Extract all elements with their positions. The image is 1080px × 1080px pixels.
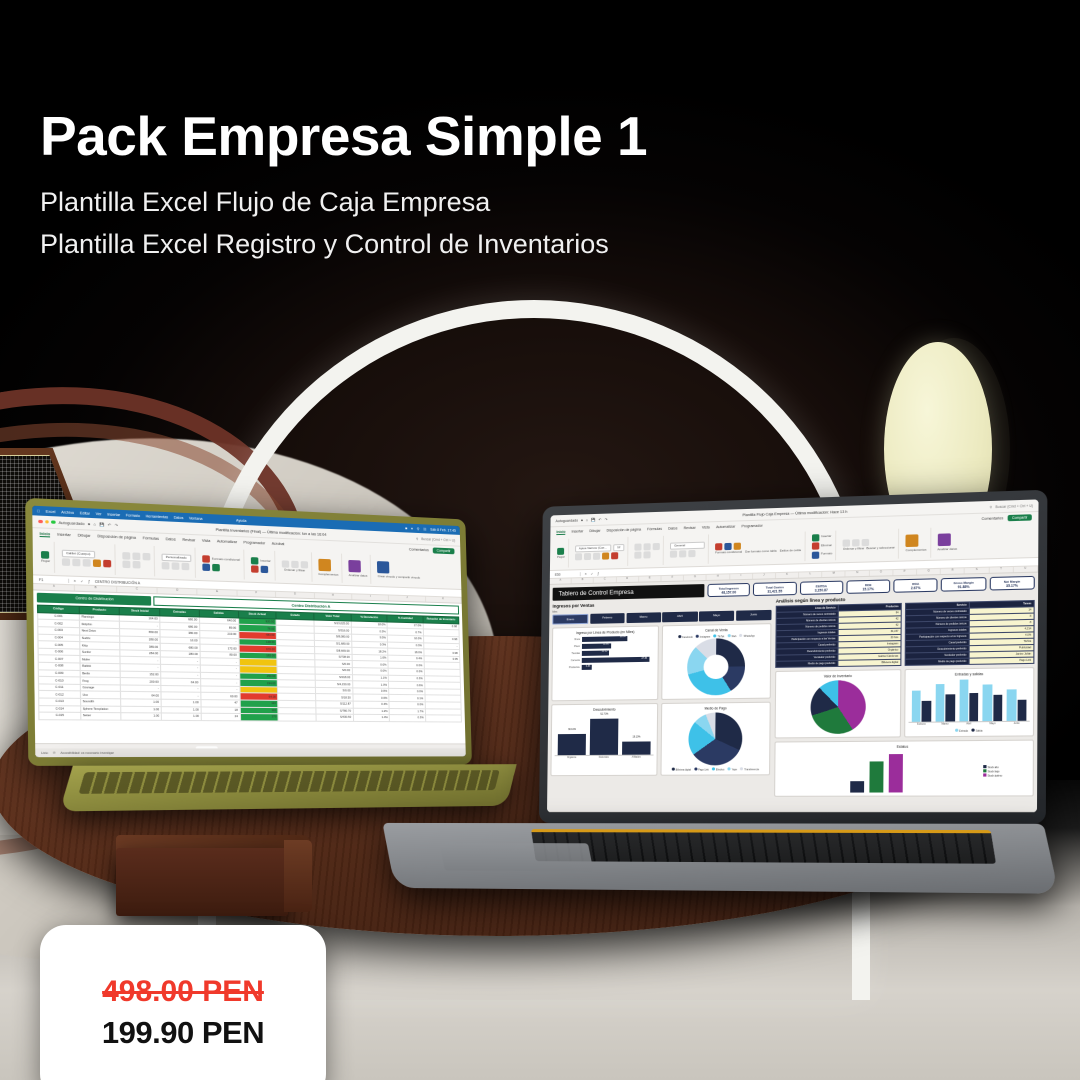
format-cells-icon-right[interactable]	[811, 551, 818, 558]
search-icon[interactable]: ⚲	[416, 536, 418, 540]
col-r-G[interactable]: G	[684, 575, 707, 581]
wrap-text-icon-right[interactable]	[634, 552, 641, 559]
laptop-right-screen: Autoguardado ⏺ ⌂ 💾 ↶ ↷ Plantilla Flujo C…	[547, 499, 1039, 812]
redo-icon-right[interactable]: ↷	[605, 517, 608, 521]
share-link-icon[interactable]	[377, 561, 389, 573]
ribbon-group-share-link[interactable]: Crear vínculo y compartir vínculo	[374, 555, 423, 586]
menu-ayuda[interactable]: Ayuda	[236, 518, 246, 523]
paste-icon-right[interactable]	[557, 547, 564, 554]
chart-card-descubrimiento[interactable]: Descubrimiento 30.10%52.70%19.10% Orgáni…	[550, 703, 658, 776]
currency-icon[interactable]	[161, 562, 169, 570]
tab-programador[interactable]: Programador	[243, 540, 265, 545]
table-linea-rows: Número de veces contratado64Número de cl…	[776, 610, 902, 668]
bar-group	[912, 679, 932, 722]
tab-datos[interactable]: Datos	[166, 537, 176, 542]
laptop-right: Autoguardado ⏺ ⌂ 💾 ↶ ↷ Plantilla Flujo C…	[520, 490, 1047, 911]
cancel-formula-icon-right[interactable]: ×	[585, 572, 587, 576]
legend-item: Facebook	[678, 634, 692, 638]
align-center-icon[interactable]	[132, 552, 140, 560]
tab-dibujar[interactable]: Dibujar	[78, 533, 91, 538]
slicer-mayo[interactable]: Mayo	[699, 611, 734, 621]
laptop-right-keyboard	[531, 829, 996, 864]
comma-icon-right[interactable]	[688, 550, 695, 557]
ribbon-group-alignment-right[interactable]	[631, 536, 664, 566]
tab-insertar-right[interactable]: Insertar	[571, 529, 583, 533]
menu-clock: Sáb 8 Feb. 17:45	[430, 527, 456, 532]
ribbon-label-formato-condicional-right: Formato condicional	[715, 551, 742, 555]
accessibility-icon[interactable]: ♾	[53, 751, 56, 755]
wifi-icon[interactable]: ▾	[411, 526, 413, 530]
laptop-right-lid: Autoguardado ⏺ ⌂ 💾 ↶ ↷ Plantilla Flujo C…	[539, 490, 1048, 824]
tab-disposicion-right[interactable]: Disposición de página	[606, 527, 641, 532]
bar	[1017, 699, 1026, 721]
cell-valor-total[interactable]: S/430.50	[316, 714, 353, 721]
dashboard-sheet[interactable]: Tablero de Control Empresa Total Ingreso…	[547, 573, 1038, 813]
ribbon-group-analyze-right[interactable]: Analizar datos	[934, 527, 961, 558]
col-r-O[interactable]: O	[870, 570, 894, 576]
bar: 46.66%	[889, 754, 903, 793]
slicer-abril[interactable]: Abril	[662, 611, 697, 621]
comma-icon[interactable]	[181, 563, 189, 571]
autosave-label-right[interactable]: Autoguardado	[555, 518, 578, 523]
tab-vista-right[interactable]: Vista	[702, 525, 710, 529]
col-r-I[interactable]: I	[730, 574, 753, 580]
hbar-track: 27.84	[582, 657, 655, 663]
tab-formulas-right[interactable]: Fórmulas	[647, 527, 662, 531]
maximize-icon[interactable]	[51, 520, 55, 524]
find-select-icon[interactable]	[300, 561, 307, 568]
menu-ver[interactable]: Ver	[96, 511, 102, 515]
estatus-bar-chart: 14.28%38.08%46.66%	[778, 750, 976, 792]
slicer-febrero[interactable]: Febrero	[590, 613, 625, 623]
merge-cells-icon[interactable]	[132, 561, 140, 569]
currency-icon-right[interactable]	[670, 551, 677, 558]
underline-icon-right[interactable]	[593, 553, 600, 560]
estatus-legend: Stock altoStock bajoStock óptimo	[983, 765, 1029, 778]
dashboard-columns: Ingresos por Ventas Mes EneroFebreroMarz…	[550, 593, 1035, 798]
ribbon-label-insertar: Insertar	[260, 559, 271, 563]
tab-insertar[interactable]: Insertar	[57, 532, 71, 537]
cell-rotacion[interactable]	[426, 715, 462, 722]
bar-group	[1007, 678, 1027, 721]
merge-cells-icon-right[interactable]	[644, 552, 651, 559]
fill-color-icon[interactable]	[93, 560, 101, 568]
bar: 19.10%	[622, 741, 651, 754]
legend-item: Entrada	[955, 729, 968, 733]
battery-icon[interactable]: ■	[405, 526, 407, 530]
menu-excel[interactable]: Excel	[46, 509, 56, 514]
tab-datos-right[interactable]: Datos	[668, 526, 677, 530]
hbar-row: Pisco11.92	[556, 642, 655, 649]
delete-cells-icon[interactable]	[251, 566, 259, 573]
col-r-R[interactable]: R	[941, 568, 965, 574]
bar: 30.10%	[558, 734, 586, 755]
autosave-toggle[interactable]: ⏺	[88, 522, 90, 526]
kpi-card: EBITDA3,150.87	[799, 581, 843, 595]
sort-filter-icon[interactable]	[291, 560, 299, 567]
bar-group	[959, 678, 979, 721]
kpi-value: 2.67%	[895, 585, 937, 590]
entradas-salidas-categories: FebreroMarzoAbrilMayoJunio	[909, 722, 1030, 727]
ribbon-label-buscar: Buscar y seleccionar	[866, 547, 895, 551]
col-r-E[interactable]: E	[639, 576, 662, 582]
cell-desviacion[interactable]: 1.4%	[353, 714, 390, 721]
tab-inicio-right[interactable]: Inicio	[556, 529, 565, 534]
menu-ventana[interactable]: Ventana	[189, 516, 203, 521]
format-cells-icon[interactable]	[260, 566, 268, 573]
percent-icon-right[interactable]	[679, 550, 686, 557]
subtitle-line-1: Plantilla Excel Flujo de Caja Empresa	[40, 182, 870, 224]
tab-disposicion[interactable]: Disposición de página	[97, 534, 136, 540]
redo-icon[interactable]: ↷	[115, 523, 118, 527]
ribbon-label-formato: Formato	[821, 553, 832, 557]
tab-dibujar-right[interactable]: Dibujar	[589, 529, 600, 533]
dashboard-left-column: Ingresos por Ventas Mes EneroFebreroMarz…	[550, 599, 771, 797]
hbar-value: 18.84	[620, 636, 626, 638]
menu-formato[interactable]: Formato	[126, 513, 140, 518]
hbar-row: Tiendas11.35	[556, 650, 655, 657]
cell-stock-actual[interactable]: 170	[240, 714, 278, 721]
ribbon-group-cells[interactable]: Insertar	[247, 550, 275, 581]
tab-inicio[interactable]: Inicio	[40, 531, 51, 537]
chart-card-medio-pago[interactable]: Medio de Pago Billetera digitalPago Link…	[660, 701, 770, 775]
legend-item: Instagram	[696, 634, 711, 638]
ribbon-group-cells-right[interactable]: Insertar Eliminar Formato	[808, 531, 836, 561]
col-r-C[interactable]: C	[594, 577, 616, 583]
document-title-right: Plantilla Flujo Caja Empresa — Última mo…	[742, 509, 847, 516]
font-name-box[interactable]: Calibri (Cuerpo)	[61, 549, 95, 558]
kpi-card: Total Ingresos48,157.00	[707, 583, 750, 597]
menu-archivo[interactable]: Archivo	[61, 510, 74, 515]
number-format-box-right[interactable]: General	[670, 541, 705, 549]
bold-icon-right[interactable]	[575, 553, 582, 560]
wooden-block-side	[284, 840, 312, 912]
autosum-icon-right[interactable]	[843, 539, 850, 546]
align-left-icon[interactable]	[122, 552, 130, 560]
cell-producto[interactable]: Setter	[80, 713, 121, 720]
tab-revisar[interactable]: Revisar	[182, 538, 195, 543]
italic-icon[interactable]	[72, 559, 80, 567]
legend-item: Transferencia	[740, 767, 759, 771]
comments-button[interactable]: Comentarios	[409, 547, 429, 552]
bar: 52.70%	[590, 719, 619, 755]
ribbon-label-pegar-right: Pegar	[557, 556, 565, 559]
menu-herramientas[interactable]: Herramientas	[145, 514, 168, 519]
addins-icon-right[interactable]	[906, 534, 919, 547]
autosave-toggle-right[interactable]: ⏺	[581, 518, 583, 522]
inventory-rows[interactable]: C-001Flamingo164.00680.00640.00920.00S/1…	[38, 613, 462, 722]
close-icon[interactable]	[38, 520, 42, 524]
bar-group	[935, 679, 955, 722]
bar	[922, 700, 931, 721]
bar	[935, 685, 944, 722]
ribbon-group-styles[interactable]: Formato condicional	[198, 548, 244, 580]
cell-codigo[interactable]: C-015	[39, 712, 81, 719]
ribbon-group-font[interactable]: Calibri (Cuerpo)	[58, 542, 116, 575]
hbar-value: 11.35	[602, 651, 608, 653]
cell-estado[interactable]	[278, 714, 316, 721]
ribbon-label-insertar-right: Insertar	[821, 535, 831, 539]
font-color-icon[interactable]	[103, 560, 111, 568]
entradas-salidas-bar-chart	[909, 678, 1030, 723]
document-title: Plantilla Inventarios (Final) — Última m…	[216, 527, 327, 536]
confirm-formula-icon[interactable]: ✓	[80, 579, 83, 583]
bar: 38.08%	[869, 761, 883, 793]
pie-chart-valor-inventario	[810, 680, 866, 734]
bar-category: Junio	[1007, 723, 1027, 725]
bar-value: 52.70%	[590, 714, 618, 716]
kpi-card: Total Gastos31,421.55	[753, 582, 796, 596]
hbar-track: 18.84	[582, 635, 655, 641]
find-select-icon-right[interactable]	[862, 538, 870, 545]
cancel-formula-icon[interactable]: ×	[74, 578, 76, 582]
bold-icon[interactable]	[62, 558, 70, 566]
inventory-table[interactable]: Código Producto Stock Inicial Entradas S…	[37, 604, 462, 722]
bar-category: Febrero	[912, 724, 931, 726]
menu-insertar[interactable]: Insertar	[107, 512, 120, 517]
bar-value: 19.10%	[622, 736, 650, 738]
cell-stock-inicial[interactable]: 1.00	[121, 713, 161, 720]
font-color-icon-right[interactable]	[611, 552, 618, 559]
chart-card-canal-venta[interactable]: Canal de Venta FacebookInstagramTikTokWe…	[661, 623, 771, 700]
metric-label: Medio de pago preferido	[776, 660, 838, 667]
kpi-value: 48,157.00	[708, 590, 749, 595]
descubrimiento-bar-chart: 30.10%52.70%19.10%	[555, 713, 654, 756]
hbar-track: 4.35	[582, 664, 655, 670]
ribbon-group-clipboard[interactable]: Pegar	[37, 541, 55, 573]
align-right-icon[interactable]	[142, 553, 150, 561]
kpi-value: 35.17%	[990, 583, 1033, 588]
ribbon-group-editing-right[interactable]: Ordenar y filtrar Buscar y seleccionar	[840, 529, 900, 561]
home-icon-right[interactable]: ⌂	[586, 518, 588, 522]
chart-title-entradas-salidas: Entradas y salidas	[909, 671, 1030, 677]
slicer-junio[interactable]: Junio	[736, 610, 772, 621]
apple-logo-icon[interactable]: 	[37, 509, 40, 513]
name-box-right[interactable]: E50	[555, 572, 581, 577]
tab-automatizar-right[interactable]: Automatizar	[716, 525, 735, 530]
hbar-row: Vinos18.84	[556, 635, 655, 642]
analyze-data-icon[interactable]	[348, 560, 361, 573]
col-r-S[interactable]: S	[965, 568, 989, 574]
chart-card-valor-inventario[interactable]: Valor de Inventario	[775, 669, 902, 738]
entradas-salidas-legend: EntradaSalida	[908, 728, 1029, 733]
bar	[912, 691, 921, 722]
col-r-N[interactable]: N	[846, 571, 870, 577]
kpi-card: Net Margin35.17%	[989, 576, 1034, 591]
tab-vista[interactable]: Vista	[202, 539, 210, 543]
insert-cells-icon[interactable]	[251, 557, 259, 564]
tab-revisar-right[interactable]: Revisar	[684, 526, 696, 530]
cell-entradas[interactable]: 1.00	[161, 713, 201, 720]
ribbon-label-ordenar: Ordenar y filtrar	[281, 569, 307, 573]
share-button-right[interactable]: Compartir	[1008, 514, 1032, 521]
formula-input[interactable]: CENTRO DISTRIBUCIÓN A	[95, 579, 140, 585]
legend-item: Salida	[971, 728, 982, 732]
horizontal-bar-chart: Vinos18.84Pisco11.92Tiendas11.35Cerveza2…	[556, 635, 655, 671]
ribbon-group-number-right[interactable]: General	[667, 534, 709, 564]
ribbon-label-estilos-celda: Estilos de celda	[780, 549, 801, 553]
inventory-sheet[interactable]: Centro de Distribución Centro Distribuci…	[33, 590, 465, 755]
accessibility-text: Accesibilidad: es necesario investigar	[60, 751, 114, 755]
cell-styles-icon-right[interactable]	[734, 542, 741, 549]
bar-value: 30.10%	[558, 729, 586, 731]
format-as-table-icon-right[interactable]	[724, 543, 731, 550]
legend-item: Stock óptimo	[983, 773, 1029, 777]
laptop-left-lid:  Excel Archivo Editar Ver Insertar Form…	[25, 498, 472, 766]
percent-icon[interactable]	[171, 563, 179, 571]
chart-card-ingreso-linea[interactable]: Ingreso por Línea de Producto (en Miles)…	[551, 625, 659, 701]
bar	[946, 694, 955, 721]
ribbon-group-number[interactable]: Personalizado	[158, 546, 196, 578]
chart-card-entradas-salidas[interactable]: Entradas y salidas FebreroMarzoAbrilMayo…	[904, 667, 1034, 737]
bar-category: Referidos	[590, 756, 618, 758]
col-r-T[interactable]: T	[989, 567, 1013, 573]
chart-title-medio-pago: Medio de Pago	[665, 705, 766, 710]
wrap-text-icon[interactable]	[122, 561, 130, 569]
undo-icon[interactable]: ↶	[108, 522, 111, 526]
col-r-M[interactable]: M	[822, 571, 846, 577]
hbar-row: Cerveza27.84	[556, 657, 655, 664]
conditional-format-icon-right[interactable]	[715, 543, 722, 550]
kpi-card: ROA2.67%	[893, 578, 938, 593]
search-icon-right[interactable]: ⚲	[990, 505, 993, 509]
autosum-icon[interactable]	[281, 560, 289, 567]
hbar-label: Pisco	[556, 645, 580, 648]
col-r-F[interactable]: F	[661, 575, 684, 581]
bar: 14.28%	[850, 781, 864, 793]
pie-legend: Billetera digitalPago LinkEfectivoYapeTr…	[665, 767, 766, 772]
status-ready: Listo	[41, 751, 48, 755]
bar-category: Orgánico	[558, 757, 586, 759]
slicer-marzo[interactable]: Marzo	[626, 612, 661, 622]
table-servicio[interactable]: Servicio Tareas Número de veces contrata…	[905, 600, 1035, 666]
legend-item: Yape	[727, 767, 737, 771]
ribbon-group-analyze[interactable]: Analizar datos	[345, 554, 372, 584]
hbar-track: 11.92	[582, 642, 655, 648]
ribbon-group-clipboard-right[interactable]: Pegar	[554, 539, 569, 568]
insert-function-icon[interactable]: ƒ	[88, 579, 90, 583]
search-input[interactable]: Buscar (Cmd + Ctrl + U)	[421, 537, 455, 542]
kpi-value: 31,421.55	[754, 588, 795, 593]
bar-category: Afiliados	[622, 756, 650, 758]
price-original: 498.00 PEN	[102, 975, 264, 1009]
ribbon-group-styles-right[interactable]: Formato condicional Dar formato como tab…	[712, 532, 805, 564]
table-linea-servicio[interactable]: Línea de Servicio Productos Número de ve…	[775, 603, 902, 668]
cell-cantidad[interactable]: 0.3%	[390, 715, 426, 722]
italic-icon-right[interactable]	[584, 553, 591, 560]
ribbon-label-dar-formato-tabla: Dar formato como tabla	[745, 550, 776, 554]
col-r-Q[interactable]: Q	[917, 569, 941, 575]
search-input-right[interactable]: Buscar (Cmd + Ctrl + U)	[995, 503, 1033, 508]
sort-filter-icon-right[interactable]	[852, 539, 859, 546]
col-r-U[interactable]: U	[1014, 566, 1038, 572]
descubrimiento-categories: OrgánicoReferidosAfiliados	[555, 755, 654, 760]
control-center-icon[interactable]: ☷	[423, 527, 426, 531]
menu-editar[interactable]: Editar	[80, 511, 90, 516]
hbar-value: 11.92	[603, 644, 609, 646]
align-center-icon-right[interactable]	[644, 543, 651, 550]
cell-salidas[interactable]: 24	[201, 713, 240, 720]
col-r-P[interactable]: P	[893, 569, 917, 575]
table-row: Medio de pago preferidoPago Link	[905, 657, 1034, 665]
fill-color-icon-right[interactable]	[602, 553, 609, 560]
insert-function-icon-right[interactable]: ƒ	[597, 571, 599, 575]
spotlight-search-icon[interactable]: ⚲	[417, 527, 420, 531]
status-bar-left: Listo ♾ Accesibilidad: es necesario inve…	[35, 748, 466, 757]
col-r-B[interactable]: B	[572, 578, 594, 584]
ribbon-label-formato-condicional: Formato condicional	[212, 557, 240, 561]
tab-automatizar[interactable]: Automatizar	[217, 539, 237, 544]
window-traffic-lights[interactable]	[38, 520, 55, 524]
share-button[interactable]: Compartir	[433, 547, 455, 554]
hbar-label: Cerveza	[556, 659, 580, 662]
legend-item: Pago Link	[694, 767, 709, 771]
ribbon-group-alignment[interactable]	[118, 545, 154, 577]
col-r-H[interactable]: H	[707, 574, 730, 580]
laptop-right-trackpad	[439, 843, 593, 872]
confirm-formula-icon-right[interactable]: ✓	[591, 571, 594, 575]
cell-styles-icon[interactable]	[212, 564, 220, 572]
col-r-J[interactable]: J	[753, 573, 776, 579]
analyze-data-icon-right[interactable]	[937, 534, 950, 547]
number-format-box[interactable]: Personalizado	[161, 553, 191, 561]
price-card: 498.00 PEN 199.90 PEN	[40, 925, 326, 1080]
ribbon-group-font-right[interactable]: Aptos Narrow (Cue... 12	[572, 537, 629, 568]
tab-programador-right[interactable]: Programador	[742, 524, 763, 529]
minimize-icon[interactable]	[45, 520, 49, 524]
menu-datos[interactable]: Datos	[174, 515, 184, 520]
ribbon-group-editing[interactable]: Ordenar y filtrar	[278, 551, 312, 582]
col-r-K[interactable]: K	[776, 573, 799, 579]
chart-title-ingreso-linea: Ingreso por Línea de Producto (en Miles)	[556, 629, 655, 635]
ribbon-group-addins[interactable]: Complementos	[315, 553, 343, 583]
chart-title-valor-inventario: Valor de Inventario	[779, 673, 897, 679]
align-left-icon-right[interactable]	[634, 543, 641, 550]
align-right-icon-right[interactable]	[653, 543, 660, 550]
col-r-A[interactable]: A	[550, 578, 572, 584]
tab-formulas[interactable]: Fórmulas	[143, 536, 159, 541]
name-box[interactable]: F1	[39, 577, 69, 582]
format-as-table-icon[interactable]	[202, 564, 210, 572]
sheet-tab-bar-right[interactable]: ListingInputsDashboardProductosVentasGas…	[547, 811, 1037, 812]
col-r-D[interactable]: D	[616, 577, 638, 583]
home-icon[interactable]: ⌂	[93, 522, 96, 526]
delete-cells-icon-right[interactable]	[811, 542, 818, 549]
font-size-box-right[interactable]: 12	[613, 544, 625, 551]
slicer-enero[interactable]: Enero	[552, 614, 588, 624]
metric-value: Pago Link	[969, 657, 1034, 664]
save-icon[interactable]: 💾	[99, 522, 104, 526]
font-name-box-right[interactable]: Aptos Narrow (Cue...	[575, 544, 611, 552]
conditional-format-icon[interactable]	[202, 555, 210, 563]
tab-acrobat[interactable]: Acrobat	[272, 542, 285, 547]
metric-value: Billetera digital	[838, 659, 901, 666]
comments-button-right[interactable]: Comentarios	[982, 516, 1004, 521]
underline-icon[interactable]	[82, 559, 90, 567]
table-servicio-rows: Número de veces contratado14Número de cl…	[905, 607, 1034, 666]
paste-icon[interactable]	[41, 551, 49, 559]
chart-card-estatus[interactable]: Estatus 14.28%38.08%46.66% Stock altoSto…	[774, 740, 1034, 797]
hbar-track: 11.35	[582, 650, 655, 656]
save-icon-right[interactable]: 💾	[591, 517, 596, 521]
insert-cells-icon-right[interactable]	[812, 534, 819, 541]
addins-icon[interactable]	[318, 559, 331, 572]
ribbon-group-addins-right[interactable]: Complementos	[902, 528, 931, 559]
undo-icon-right[interactable]: ↶	[598, 517, 601, 521]
autosave-label[interactable]: Autoguardado	[59, 520, 85, 525]
col-r-L[interactable]: L	[799, 572, 822, 578]
ribbon-label-analizar-right: Analizar datos	[937, 547, 957, 551]
